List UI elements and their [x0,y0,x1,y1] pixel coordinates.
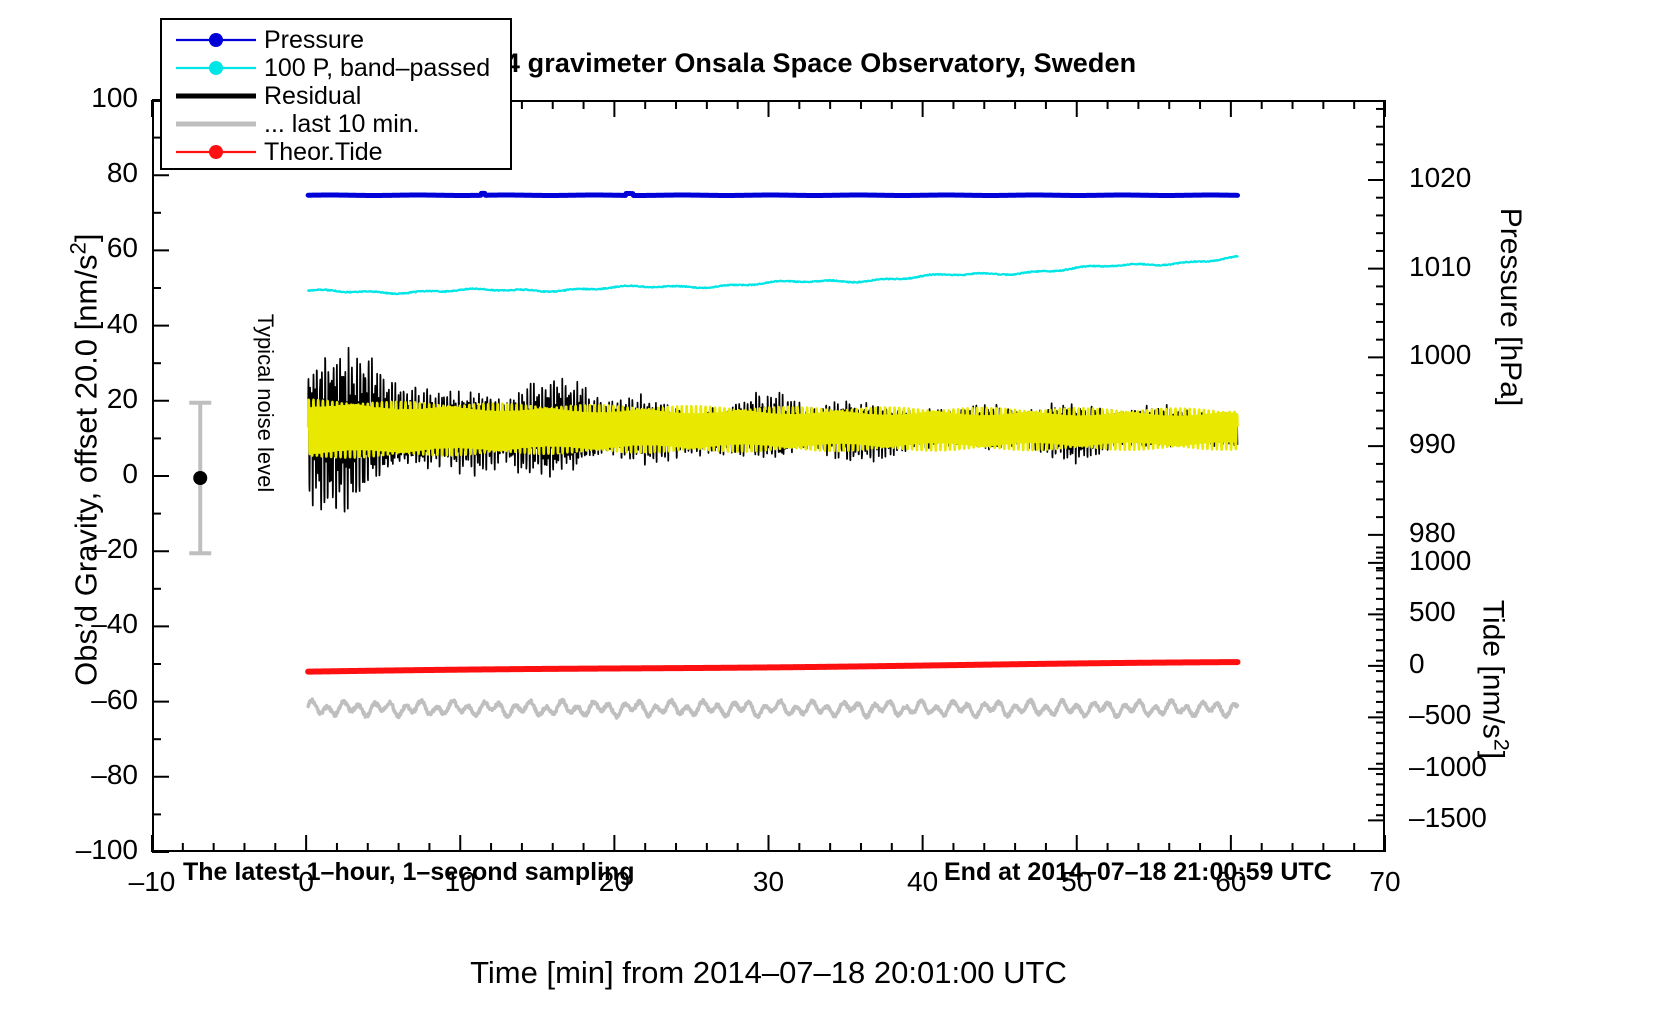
y-left-tick-label-6: –20 [28,533,138,565]
y-tide-tick-label-4: –1000 [1409,751,1549,783]
chart-canvas: SCG_054 gravimeter Onsala Space Observat… [0,0,1660,1020]
legend-label: Theor.Tide [260,139,383,165]
y-left-tick-label-4: 20 [28,383,138,415]
legend-swatch-icon [172,55,260,81]
legend-item-0[interactable]: Pressure [172,26,502,54]
legend: Pressure100 P, band–passedResidual... la… [160,18,512,170]
y-left-tick-label-3: 40 [28,308,138,340]
y-left-tick-label-2: 60 [28,232,138,264]
legend-item-1[interactable]: 100 P, band–passed [172,54,502,82]
legend-swatch-icon [172,27,260,53]
y-left-tick-label-0: 100 [28,82,138,114]
y-pressure-tick-label-4: 990 [1409,428,1549,460]
noise-level-label: Typical noise level [252,298,278,508]
legend-label: Pressure [260,27,364,53]
y-tide-tick-label-5: –1500 [1409,802,1549,834]
legend-label: ... last 10 min. [260,111,420,137]
legend-item-4[interactable]: Theor.Tide [172,138,502,166]
legend-item-3[interactable]: ... last 10 min. [172,110,502,138]
legend-swatch-icon [172,111,260,137]
x-tick-label-8: 70 [1325,866,1445,898]
y-pressure-tick-label-1: 1020 [1409,162,1549,194]
legend-label: 100 P, band–passed [260,55,490,81]
y-tide-tick-label-1: 500 [1409,596,1549,628]
legend-swatch-icon [172,83,260,109]
y-left-tick-label-1: 80 [28,157,138,189]
y-tide-tick-label-3: –500 [1409,699,1549,731]
y-left-tick-label-8: –60 [28,684,138,716]
footer-left-text: The latest 1–hour, 1–second sampling [183,858,635,887]
footer-right-text: End at 2014–07–18 21:00:59 UTC [944,858,1332,887]
y-tide-tick-label-0: 1000 [1409,545,1549,577]
y-pressure-tick-label-2: 1010 [1409,251,1549,283]
y-left-tick-label-5: 0 [28,458,138,490]
y-left-tick-label-10: –100 [28,834,138,866]
y-pressure-tick-label-3: 1000 [1409,339,1549,371]
legend-item-2[interactable]: Residual [172,82,502,110]
legend-label: Residual [260,83,361,109]
legend-swatch-icon [172,139,260,165]
y-left-tick-label-9: –80 [28,759,138,791]
y-left-tick-label-7: –40 [28,608,138,640]
x-tick-label-4: 30 [709,866,829,898]
y-tide-tick-label-2: 0 [1409,648,1549,680]
